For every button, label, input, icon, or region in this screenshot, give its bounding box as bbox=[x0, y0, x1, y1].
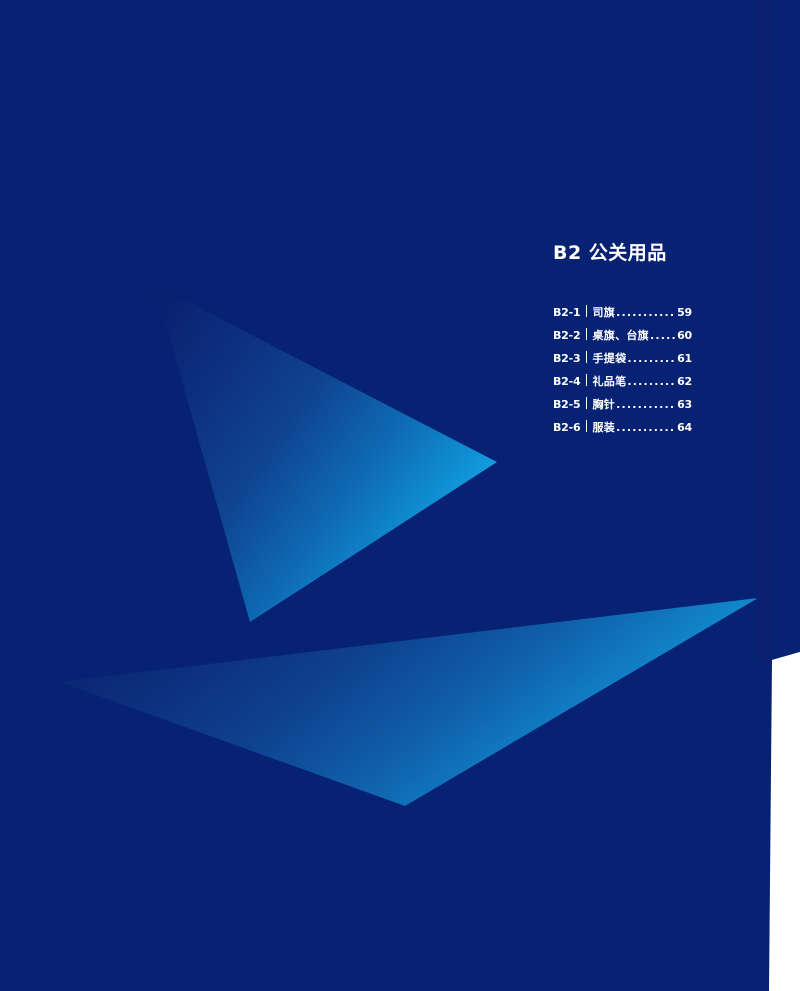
toc-divider bbox=[586, 305, 587, 317]
side-tab-strip bbox=[756, 0, 772, 672]
toc-page-number: 64 bbox=[677, 416, 692, 439]
toc-name: 服装 bbox=[592, 416, 615, 439]
toc-leader-dots bbox=[616, 393, 676, 416]
list-item[interactable]: B2-4 礼品笔 62 bbox=[553, 370, 692, 393]
toc-name: 司旗 bbox=[592, 301, 615, 324]
toc-name: 胸针 bbox=[592, 393, 615, 416]
toc-leader-dots bbox=[627, 370, 676, 393]
toc-name: 礼品笔 bbox=[592, 370, 626, 393]
table-of-contents: B2-1 司旗 59 B2-2 桌旗、台旗 60 B2-3 手提袋 61 bbox=[553, 301, 692, 439]
toc-leader-dots bbox=[616, 301, 676, 324]
toc-leader-dots bbox=[616, 416, 676, 439]
toc-page-number: 61 bbox=[677, 347, 692, 370]
list-item[interactable]: B2-6 服装 64 bbox=[553, 416, 692, 439]
toc-page-number: 60 bbox=[677, 324, 692, 347]
toc-page-number: 62 bbox=[677, 370, 692, 393]
toc-leader-dots bbox=[650, 324, 676, 347]
toc-name: 手提袋 bbox=[592, 347, 626, 370]
toc-name: 桌旗、台旗 bbox=[592, 324, 649, 347]
toc-code: B2-2 bbox=[553, 324, 580, 347]
toc-code: B2-1 bbox=[553, 301, 580, 324]
toc-code: B2-6 bbox=[553, 416, 580, 439]
toc-code: B2-3 bbox=[553, 347, 580, 370]
bottom-right-cutout-fill bbox=[769, 652, 800, 991]
page-title-code: B2 bbox=[553, 242, 582, 264]
list-item[interactable]: B2-3 手提袋 61 bbox=[553, 347, 692, 370]
toc-divider bbox=[586, 351, 587, 363]
toc-code: B2-4 bbox=[553, 370, 580, 393]
toc-divider bbox=[586, 328, 587, 340]
list-item[interactable]: B2-1 司旗 59 bbox=[553, 301, 692, 324]
toc-page-number: 59 bbox=[677, 301, 692, 324]
page-title: B2公关用品 bbox=[553, 238, 753, 265]
list-item[interactable]: B2-2 桌旗、台旗 60 bbox=[553, 324, 692, 347]
page-title-name: 公关用品 bbox=[589, 242, 667, 264]
toc-divider bbox=[586, 374, 587, 386]
list-item[interactable]: B2-5 胸针 63 bbox=[553, 393, 692, 416]
toc-page-number: 63 bbox=[677, 393, 692, 416]
toc-leader-dots bbox=[627, 347, 676, 370]
section-divider-page: 公关用品 B2公关用品 B2-1 司旗 59 B2-2 桌旗、台旗 60 bbox=[0, 0, 800, 991]
toc-divider bbox=[586, 397, 587, 409]
toc-code: B2-5 bbox=[553, 393, 580, 416]
chevron-arrow-graphic bbox=[0, 0, 800, 991]
content-block: B2公关用品 B2-1 司旗 59 B2-2 桌旗、台旗 60 B2-3 手提袋 bbox=[553, 238, 753, 439]
toc-divider bbox=[586, 420, 587, 432]
